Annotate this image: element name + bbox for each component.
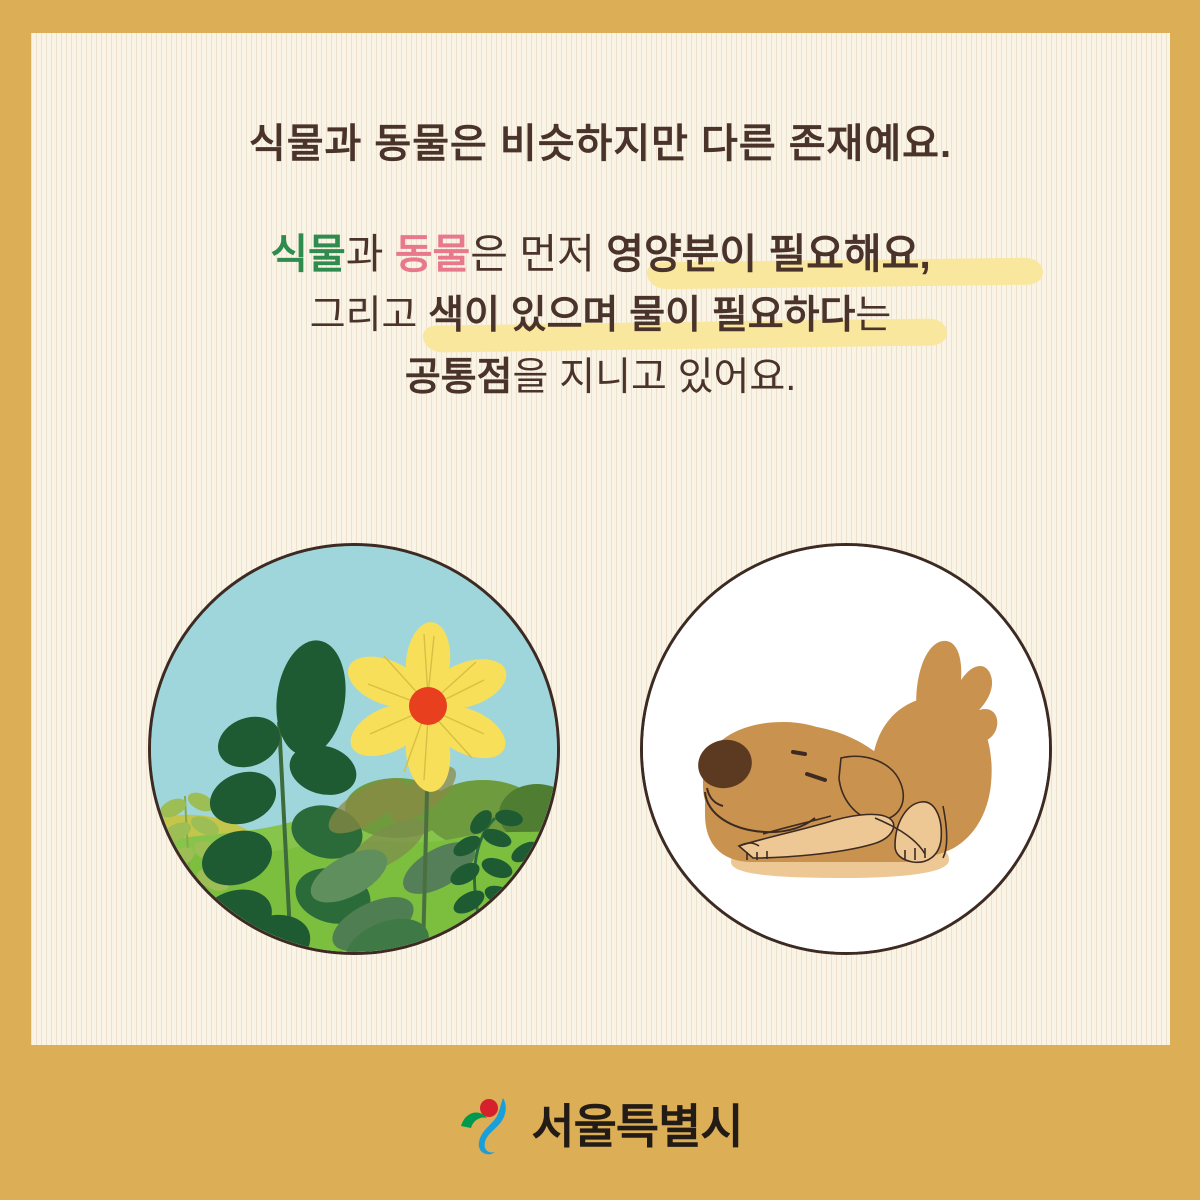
paragraph-line-2: 그리고 색이 있으며 물이 필요하다는 (31, 285, 1170, 347)
word-common-point: 공통점 (405, 356, 513, 399)
plant-illustration-svg (151, 546, 557, 952)
flower-center (409, 687, 447, 725)
highlighted-text-nutrients: 영양분이 필요해요, (606, 231, 931, 277)
seoul-logo-icon (457, 1090, 519, 1156)
text-run-4: 을 지니고 있어요. (512, 356, 796, 399)
animal-illustration (640, 543, 1052, 955)
page-title: 식물과 동물은 비슷하지만 다른 존재예요. (31, 111, 1170, 169)
dog-eyebrow (793, 752, 805, 754)
paragraph-line-3: 공통점을 지니고 있어요. (31, 347, 1170, 409)
text-run-3: 는 (855, 294, 891, 337)
footer: 서울특별시 (0, 1045, 1200, 1200)
text-block: 식물과 동물은 비슷하지만 다른 존재예요. 식물과 동물은 먼저 영양분이 필… (31, 33, 1170, 409)
text-run-2: 그리고 (310, 294, 428, 337)
paragraph-line-1: 식물과 동물은 먼저 영양분이 필요해요, (31, 223, 1170, 285)
text-run-1: 은 먼저 (470, 231, 606, 277)
plant-illustration (148, 543, 560, 955)
word-animal: 동물 (395, 231, 470, 277)
logo-red-dot (480, 1099, 498, 1117)
seoul-logo-symbol (457, 1090, 519, 1156)
word-plant: 식물 (270, 231, 345, 277)
content-card: 식물과 동물은 비슷하지만 다른 존재예요. 식물과 동물은 먼저 영양분이 필… (31, 33, 1170, 1045)
dog-illustration-svg (643, 546, 1049, 952)
text-particle-gwa: 과 (346, 231, 395, 277)
body-paragraph: 식물과 동물은 먼저 영양분이 필요해요, 그리고 색이 있으며 물이 필요하다… (31, 223, 1170, 409)
seoul-logo-text: 서울특별시 (531, 1088, 742, 1157)
highlighted-text-color-water: 색이 있으며 물이 필요하다 (428, 294, 855, 337)
